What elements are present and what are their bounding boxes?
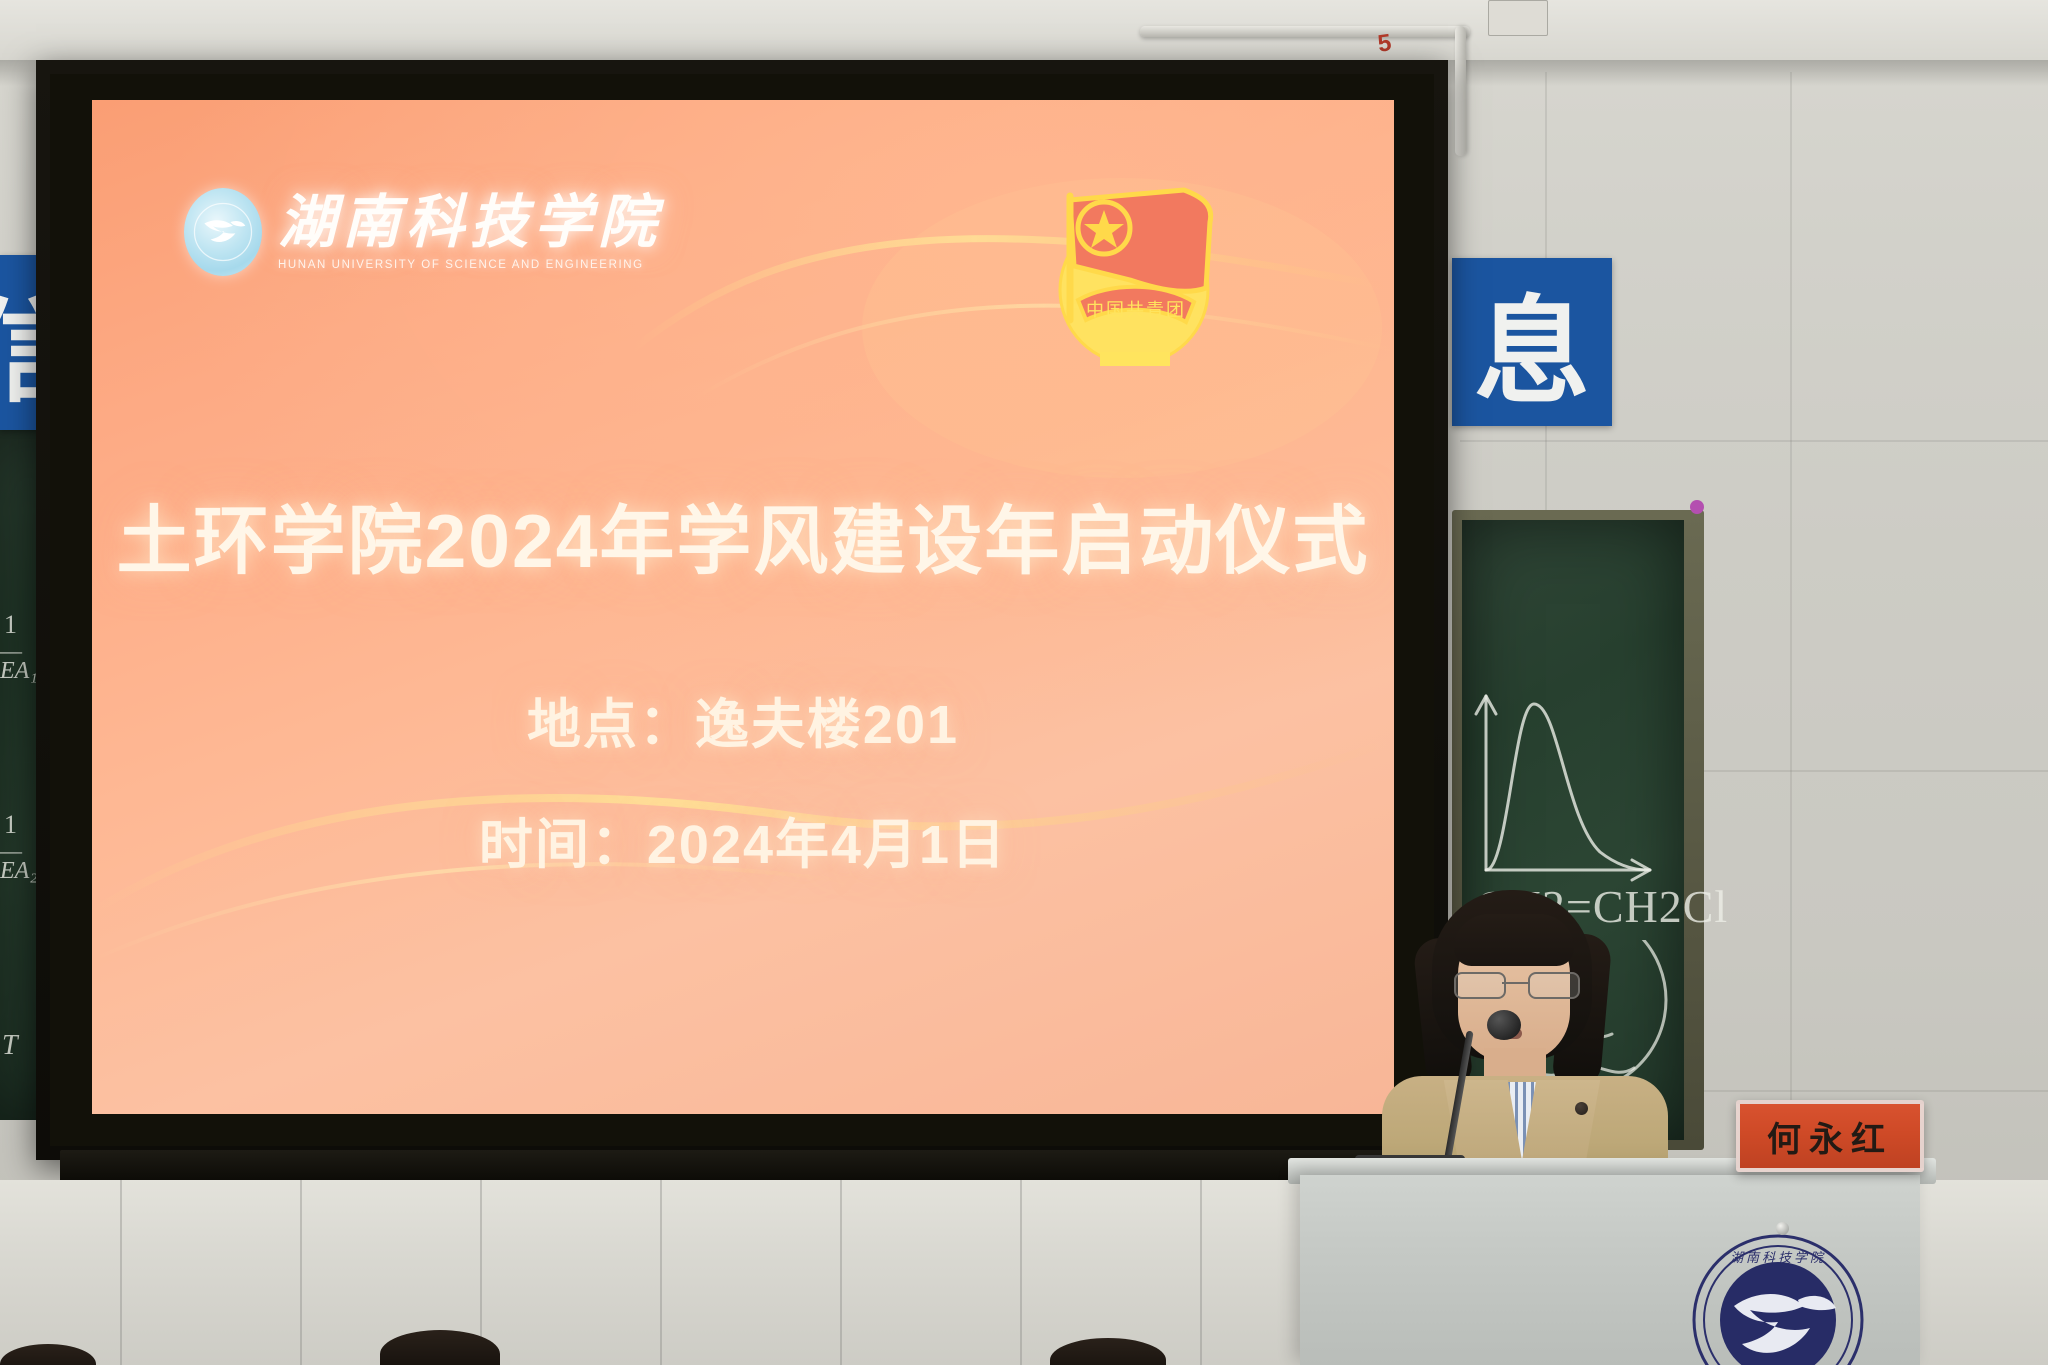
university-emblem-icon [184,188,262,276]
projection-screen: 湖南科技学院 HUNAN UNIVERSITY OF SCIENCE AND E… [36,60,1448,1160]
wall-sign-right: 息 [1452,258,1612,426]
slide-title: 土环学院2024年学风建设年启动仪式 [92,480,1394,589]
conduit-junction-box [1488,0,1548,36]
slide-time: 时间：2024年4月1日 [92,800,1394,879]
panel-seam [1020,1180,1022,1365]
glasses-lens-left [1454,972,1506,999]
communist-youth-league-emblem-icon: 中国共青团 [1034,170,1244,370]
wall-sticker [1690,500,1704,514]
speaker-bangs [1454,914,1574,966]
screen-valance [60,1150,1430,1184]
podium-university-logo-icon: OF SCIENCE AND ENGINEERING 湖南科技学院 1941 [1690,1232,1866,1365]
jacket-shoulder-button [1575,1102,1588,1115]
speaker-nameplate-text: 何永红 [1767,1112,1893,1161]
podium-logo-chinese: 湖南科技学院 [1730,1250,1826,1265]
lecture-hall-scene: 5 1 ― EA₁ 1 ― EA₂ T CH2=CH2Cl ✕ [0,0,2048,1365]
ceiling-conduit [1140,26,1470,37]
panel-seam [660,1180,662,1365]
speaker-figure [1380,890,1670,1190]
logo-english-name: HUNAN UNIVERSITY OF SCIENCE AND ENGINEER… [278,259,662,271]
panel-seam [300,1180,302,1365]
podium-screw [1776,1222,1789,1235]
logo-chinese-name: 湖南科技学院 [278,194,662,252]
wall-seam [1790,72,1792,1182]
slide-university-logo: 湖南科技学院 HUNAN UNIVERSITY OF SCIENCE AND E… [184,188,662,276]
wall-conduit [1455,26,1466,156]
speaker-nameplate: 何永红 [1736,1100,1924,1172]
presentation-slide: 湖南科技学院 HUNAN UNIVERSITY OF SCIENCE AND E… [92,100,1394,1114]
slide-location: 地点：逸夫楼201 [92,680,1394,759]
wall-seam [1460,440,2048,442]
microphone-head-icon [1487,1010,1521,1040]
panel-seam [120,1180,122,1365]
flying-bird-icon [192,201,254,263]
glasses-lens-right [1528,972,1580,999]
wall-sign-right-text: 息 [1474,258,1590,426]
svg-text:中国共青团: 中国共青团 [1086,300,1186,320]
panel-seam [840,1180,842,1365]
panel-seam [1200,1180,1202,1365]
glasses-bridge [1502,982,1528,984]
speaker-glasses-icon [1454,972,1576,996]
